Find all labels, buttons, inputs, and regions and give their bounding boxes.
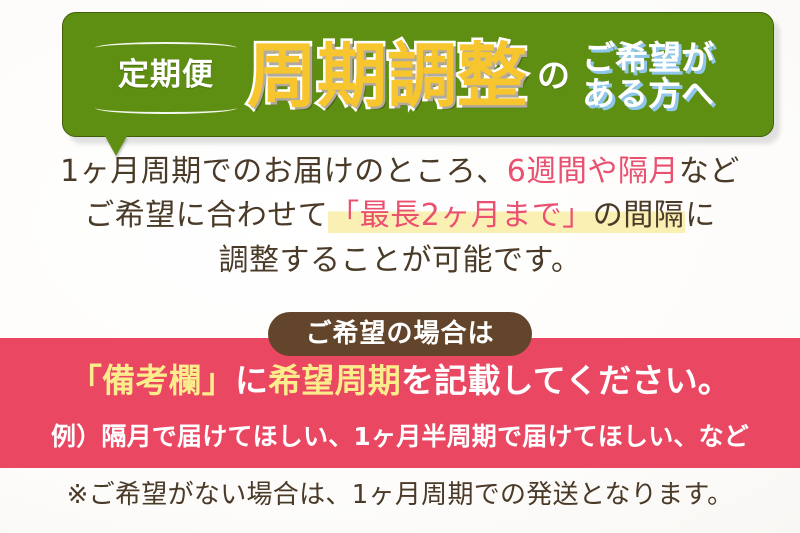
body-line-2: ご希望に合わせて「最長2ヶ月まで」の間隔に <box>0 194 800 238</box>
cta-pill: ご希望の場合は <box>268 312 532 356</box>
body-line-3: 調整することが可能です。 <box>0 239 800 283</box>
target-audience-line1: ご希望が <box>582 41 714 75</box>
subscription-badge: 定期便 <box>91 28 241 124</box>
body-line-2-marker: 「最長2ヶ月まで」の間隔 <box>328 198 685 233</box>
body-line-1-b: など <box>679 154 740 189</box>
cta-line-1-d: を記載してください。 <box>401 361 731 400</box>
body-line-1-highlight: 6週間や隔月 <box>507 154 679 189</box>
footnote-text: ※ご希望がない場合は、1ヶ月周期での発送となります。 <box>0 482 800 508</box>
cta-line-2: 例）隔月で届けてほしい、1ヶ月半周期で届けてほしい、など <box>0 424 800 449</box>
swash-line-bottom-icon <box>95 102 237 114</box>
header-green-box: 定期便 周期調整 の ご希望が ある方へ <box>62 12 774 137</box>
headline-text: 周期調整 <box>247 41 527 111</box>
headline-particle: の <box>537 59 570 92</box>
body-line-2-b: に <box>685 198 716 233</box>
cta-line-1: 「備考欄」に希望周期を記載してください。 <box>0 364 800 397</box>
target-audience-text: ご希望が ある方へ <box>582 41 714 110</box>
body-line-1-a: 1ヶ月周期でのお届けのところ、 <box>60 154 507 189</box>
header-banner: 定期便 周期調整 の ご希望が ある方へ <box>62 12 774 137</box>
cta-line-1-a: 「備考欄」 <box>69 361 235 400</box>
subscription-badge-label: 定期便 <box>118 60 214 91</box>
promo-banner: 定期便 周期調整 の ご希望が ある方へ 1ヶ月周期でのお届けのところ、6週間や… <box>0 0 800 533</box>
cta-pill-label: ご希望の場合は <box>305 321 494 347</box>
body-line-1: 1ヶ月周期でのお届けのところ、6週間や隔月など <box>0 150 800 194</box>
target-audience-line2: ある方へ <box>582 77 714 111</box>
body-copy: 1ヶ月周期でのお届けのところ、6週間や隔月など ご希望に合わせて「最長2ヶ月まで… <box>0 150 800 283</box>
cta-line-1-c: 希望周期 <box>268 361 401 400</box>
body-line-2-a: ご希望に合わせて <box>84 198 328 233</box>
body-line-2-highlight-a: 「最長2ヶ月まで」 <box>329 198 593 233</box>
body-line-2-highlight-b: の <box>593 198 624 233</box>
cta-line-1-b: に <box>235 361 268 400</box>
body-line-2-highlight-c: 間隔 <box>623 198 684 233</box>
swash-line-top-icon <box>95 42 237 54</box>
